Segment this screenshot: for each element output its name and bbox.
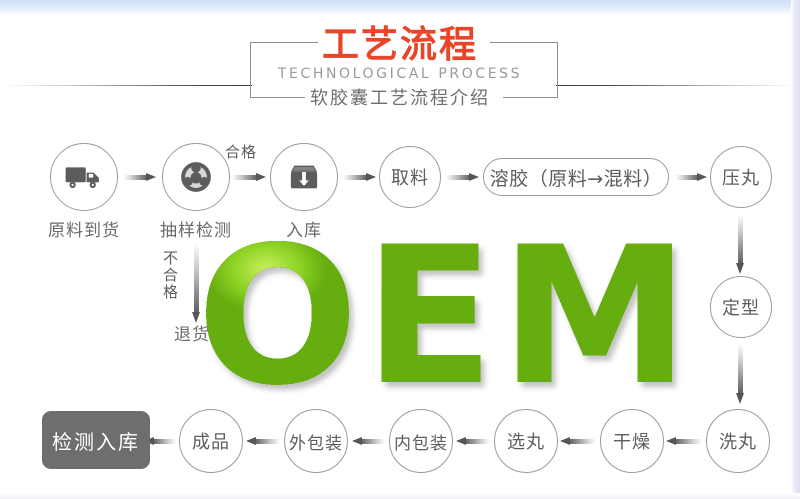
node-label-outer-packaging: 外包装 [289,429,343,454]
arrow-drying-to-sorting [560,437,596,446]
node-gel-melting[interactable]: 溶胶（原料→混料） [483,158,669,196]
node-shaping[interactable]: 定型 [710,276,772,338]
arrow-arrival-to-sampling [124,173,156,182]
node-label-inspection-warehouse: 检测入库 [52,426,140,455]
arrow-fail-to-return [192,243,201,323]
header-rule-left [0,85,252,86]
arrow-shaping-to-washing [736,344,745,404]
arrow-sorting-to-inner-pack [456,437,490,446]
arrow-sampling-to-warehouse [232,173,266,182]
bottom-decorative-band [0,493,800,499]
truck-icon [63,156,105,198]
node-label-gel-melting: 溶胶（原料→混料） [490,164,662,191]
caption-warehouse-in: 入库 [264,216,344,241]
node-label-pill-pressing: 压丸 [722,164,760,190]
node-inspection-warehouse[interactable]: 检测入库 [42,411,150,469]
node-label-material-pickup: 取料 [391,164,429,190]
node-inner-packaging[interactable]: 内包装 [389,409,453,473]
node-sampling-inspection[interactable] [162,143,230,211]
node-label-pill-washing: 洗丸 [719,428,757,454]
node-finished-product[interactable]: 成品 [179,409,243,473]
arrow-pressing-to-shaping [736,214,745,274]
page-subtitle-cn: 软胶囊工艺流程介绍 [0,90,800,108]
arrow-washing-to-drying [666,437,702,446]
node-label-finished-product: 成品 [192,428,230,454]
node-label-pill-sorting: 选丸 [507,428,545,454]
node-drying[interactable]: 干燥 [600,409,664,473]
page-title: 工艺流程 [0,26,800,63]
header-rule-right [556,85,800,86]
node-pill-sorting[interactable]: 选丸 [494,409,558,473]
node-warehouse-in[interactable] [270,143,338,211]
node-raw-material-arrival[interactable] [50,143,118,211]
page-subtitle-en: TECHNOLOGICAL PROCESS [0,67,800,81]
label-pass: 合格 [225,141,257,162]
node-label-shaping: 定型 [722,294,760,320]
node-pill-pressing[interactable]: 压丸 [710,146,772,208]
header: 工艺流程 TECHNOLOGICAL PROCESS 软胶囊工艺流程介绍 [0,14,800,114]
caption-return-goods: 退货 [152,320,232,345]
inbox-arrow-down-icon [283,156,325,198]
node-label-drying: 干燥 [613,428,651,454]
arrow-outer-pack-to-finished [246,437,280,446]
sampling-icon [175,156,217,198]
oem-watermark: OEM [196,232,696,402]
node-label-inner-packaging: 内包装 [394,429,448,454]
arrow-inner-to-outer-pack [352,437,385,446]
arrow-warehouse-to-pickup [343,173,376,182]
label-fail: 不合格 [160,250,181,301]
caption-raw-material-arrival: 原料到货 [24,216,144,241]
node-pill-washing[interactable]: 洗丸 [706,409,770,473]
caption-sampling-inspection: 抽样检测 [136,216,256,241]
arrow-gel-to-pressing [676,173,707,182]
node-outer-packaging[interactable]: 外包装 [284,409,348,473]
arrow-pickup-to-gel [446,173,479,182]
node-material-pickup[interactable]: 取料 [379,146,441,208]
process-flow-infographic: 工艺流程 TECHNOLOGICAL PROCESS 软胶囊工艺流程介绍 OEM… [0,0,800,499]
